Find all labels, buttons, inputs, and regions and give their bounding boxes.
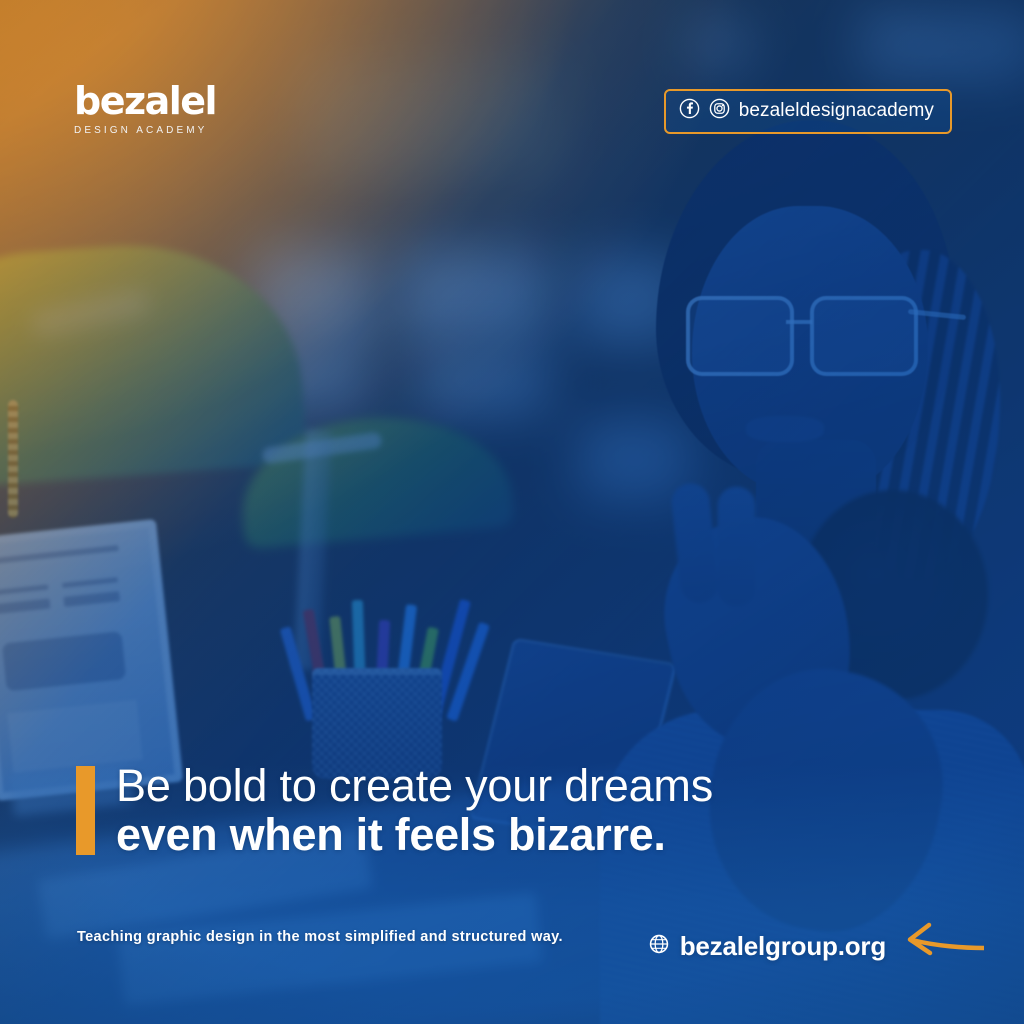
- instagram-icon[interactable]: [709, 98, 730, 124]
- tagline-text: Teaching graphic design in the most simp…: [77, 929, 563, 945]
- website-block[interactable]: bezalelgroup.org: [648, 921, 984, 972]
- background-photo: [0, 0, 1024, 1024]
- logo-wordmark: bezalel: [74, 82, 216, 120]
- social-handle-badge[interactable]: bezaleldesignacademy: [664, 89, 952, 134]
- headline-line-2: even when it feels bizarre.: [116, 810, 713, 860]
- social-media-poster: bezalel DESIGN ACADEMY bezaleldesignacad…: [0, 0, 1024, 1024]
- headline-line-1: Be bold to create your dreams: [116, 762, 713, 810]
- facebook-icon[interactable]: [679, 98, 700, 124]
- globe-icon: [648, 933, 670, 960]
- social-handle-text: bezaleldesignacademy: [739, 100, 934, 122]
- logo-subtitle: DESIGN ACADEMY: [74, 125, 216, 136]
- headline-block: Be bold to create your dreams even when …: [76, 762, 713, 859]
- vignette-overlay: [0, 0, 1024, 1024]
- brand-logo[interactable]: bezalel DESIGN ACADEMY: [74, 82, 216, 136]
- website-url: bezalelgroup.org: [680, 931, 886, 962]
- accent-bar: [76, 766, 95, 855]
- arrow-left-icon: [896, 921, 984, 972]
